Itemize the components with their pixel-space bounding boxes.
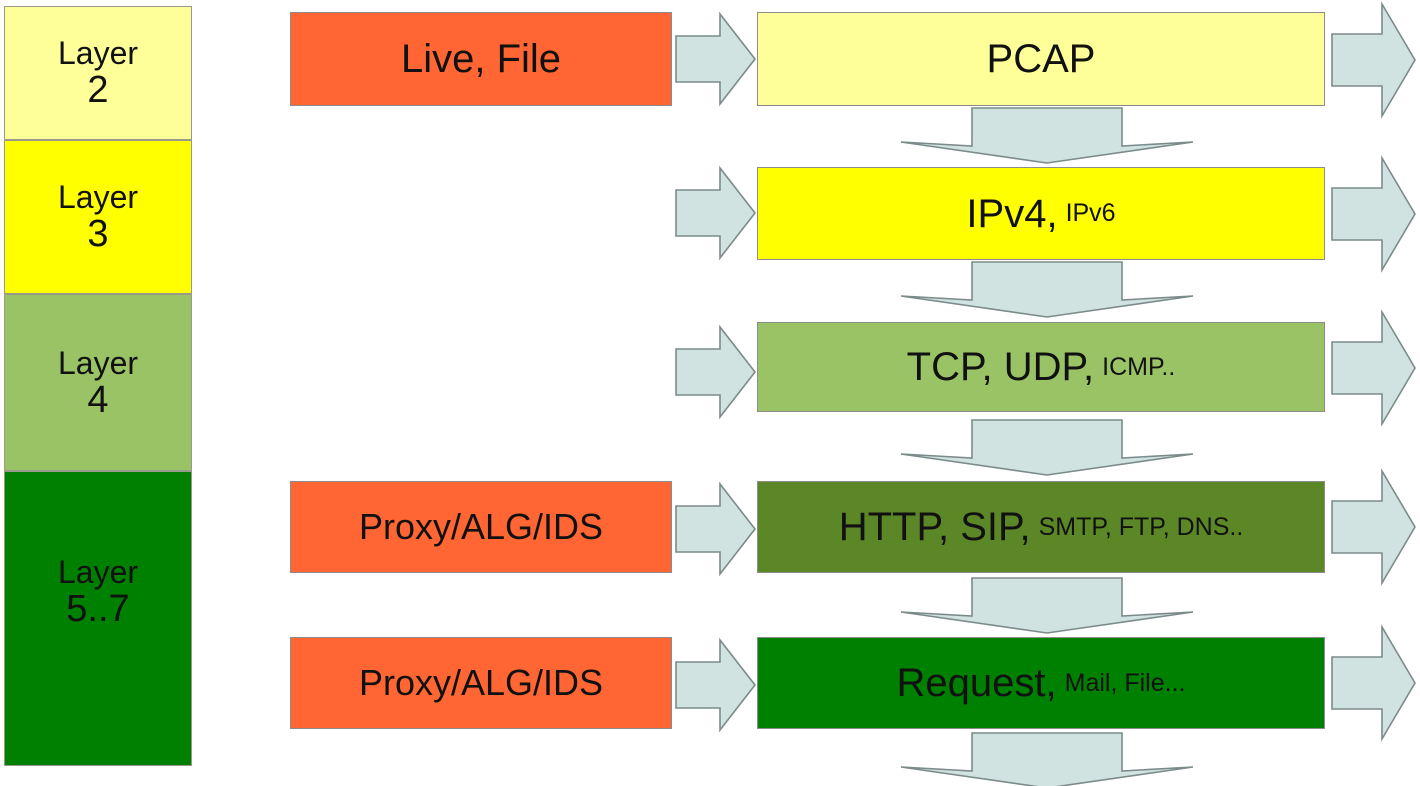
layer-block-3[interactable]: Layer 3	[4, 140, 192, 294]
diagram-canvas: Layer 2 Layer 3 Layer 4 Layer 5..7 Live,…	[0, 0, 1420, 786]
arrow-right-icon-row1	[676, 14, 756, 104]
source-box-proxy-alg-ids-1-label: Proxy/ALG/IDS	[359, 509, 603, 545]
protocol-box-tcp-udp-secondary: ICMP..	[1102, 355, 1175, 380]
source-box-live-file[interactable]: Live, File	[290, 12, 672, 106]
layer-block-4[interactable]: Layer 4	[4, 294, 192, 471]
protocol-box-http-sip-primary: HTTP, SIP,	[839, 507, 1031, 547]
protocol-box-tcp-udp[interactable]: TCP, UDP, ICMP..	[757, 322, 1325, 412]
source-box-proxy-alg-ids-2[interactable]: Proxy/ALG/IDS	[290, 637, 672, 729]
layer-block-2[interactable]: Layer 2	[4, 6, 192, 140]
protocol-box-ipv4[interactable]: IPv4, IPv6	[757, 167, 1325, 260]
layer-block-5-7-number: 5..7	[58, 590, 138, 628]
arrow-down-icon-4	[900, 578, 1194, 634]
source-box-proxy-alg-ids-2-label: Proxy/ALG/IDS	[359, 665, 603, 701]
layer-block-3-label: Layer	[58, 181, 138, 213]
layer-block-4-number: 4	[58, 381, 138, 419]
layer-block-4-label: Layer	[58, 347, 138, 379]
protocol-box-request-secondary: Mail, File...	[1065, 671, 1186, 696]
source-box-live-file-label: Live, File	[401, 39, 561, 79]
arrow-down-icon-5	[900, 733, 1194, 786]
protocol-box-request[interactable]: Request, Mail, File...	[757, 637, 1325, 729]
protocol-box-ipv4-secondary: IPv6	[1066, 201, 1116, 226]
layer-block-2-label: Layer	[58, 37, 138, 69]
layer-block-5-7[interactable]: Layer 5..7	[4, 471, 192, 766]
source-box-proxy-alg-ids-1[interactable]: Proxy/ALG/IDS	[290, 481, 672, 573]
protocol-box-pcap-primary: PCAP	[987, 39, 1096, 79]
arrow-right-icon-row2-out	[1332, 158, 1416, 270]
protocol-box-pcap[interactable]: PCAP	[757, 12, 1325, 106]
arrow-right-icon-row1-out	[1332, 4, 1416, 116]
protocol-box-ipv4-primary: IPv4,	[966, 194, 1057, 234]
arrow-right-icon-row5	[676, 640, 756, 730]
arrow-right-icon-row3	[676, 327, 756, 417]
layer-block-2-number: 2	[58, 71, 138, 109]
arrow-down-icon-2	[900, 262, 1194, 318]
layer-block-5-7-label: Layer	[58, 556, 138, 588]
arrow-right-icon-row3-out	[1332, 312, 1416, 424]
arrow-right-icon-row4	[676, 484, 756, 574]
protocol-box-http-sip-secondary: SMTP, FTP, DNS..	[1039, 515, 1244, 540]
protocol-box-tcp-udp-primary: TCP, UDP,	[907, 347, 1094, 387]
arrow-down-icon-3	[900, 420, 1194, 476]
layer-block-3-number: 3	[58, 215, 138, 253]
arrow-right-icon-row4-out	[1332, 471, 1416, 583]
arrow-down-icon-1	[900, 108, 1194, 164]
protocol-box-http-sip[interactable]: HTTP, SIP, SMTP, FTP, DNS..	[757, 481, 1325, 573]
osi-layer-stack: Layer 2 Layer 3 Layer 4 Layer 5..7	[4, 6, 192, 766]
protocol-box-request-primary: Request,	[897, 663, 1057, 703]
arrow-right-icon-row5-out	[1332, 627, 1416, 739]
arrow-right-icon-row2	[676, 168, 756, 258]
